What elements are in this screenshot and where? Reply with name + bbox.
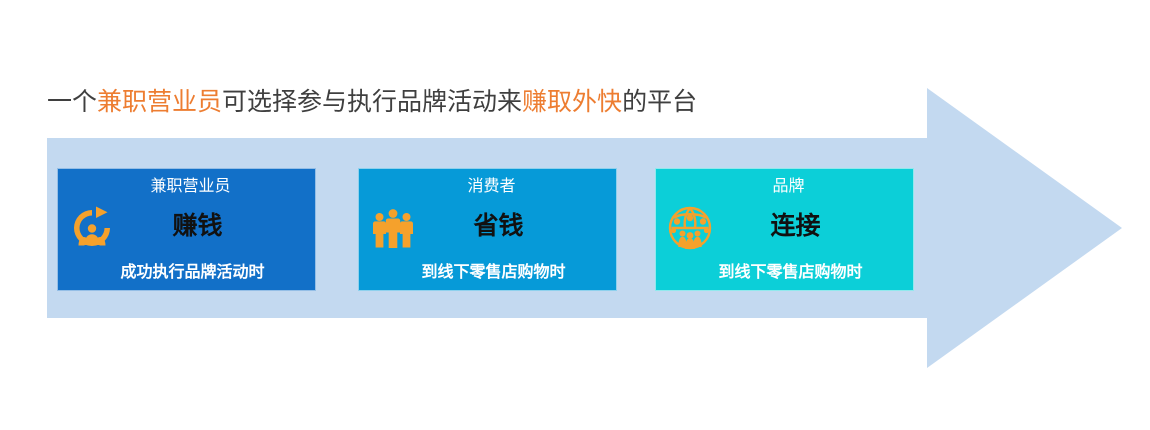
card-header-label: 品牌 — [656, 177, 913, 197]
card-main-label: 省钱 — [359, 211, 616, 243]
card-part-time-clerk[interactable]: 兼职营业员 赚钱 成功执行品牌活动时 — [57, 168, 316, 291]
card-main-label: 赚钱 — [58, 211, 315, 243]
card-footer-label: 到线下零售店购物时 — [359, 262, 616, 283]
card-main-label: 连接 — [656, 211, 913, 243]
diagram-canvas: 一个兼职营业员可选择参与执行品牌活动来赚取外快的平台 兼职营业员 赚钱 成功执行… — [0, 0, 1150, 430]
card-footer-label: 到线下零售店购物时 — [656, 262, 913, 283]
card-consumer[interactable]: 消费者 省钱 到线下零售店购物时 — [358, 168, 617, 291]
card-brand[interactable]: 品牌 — [655, 168, 914, 291]
card-header-label: 兼职营业员 — [58, 177, 315, 197]
card-header-label: 消费者 — [359, 177, 616, 197]
card-footer-label: 成功执行品牌活动时 — [58, 262, 315, 283]
